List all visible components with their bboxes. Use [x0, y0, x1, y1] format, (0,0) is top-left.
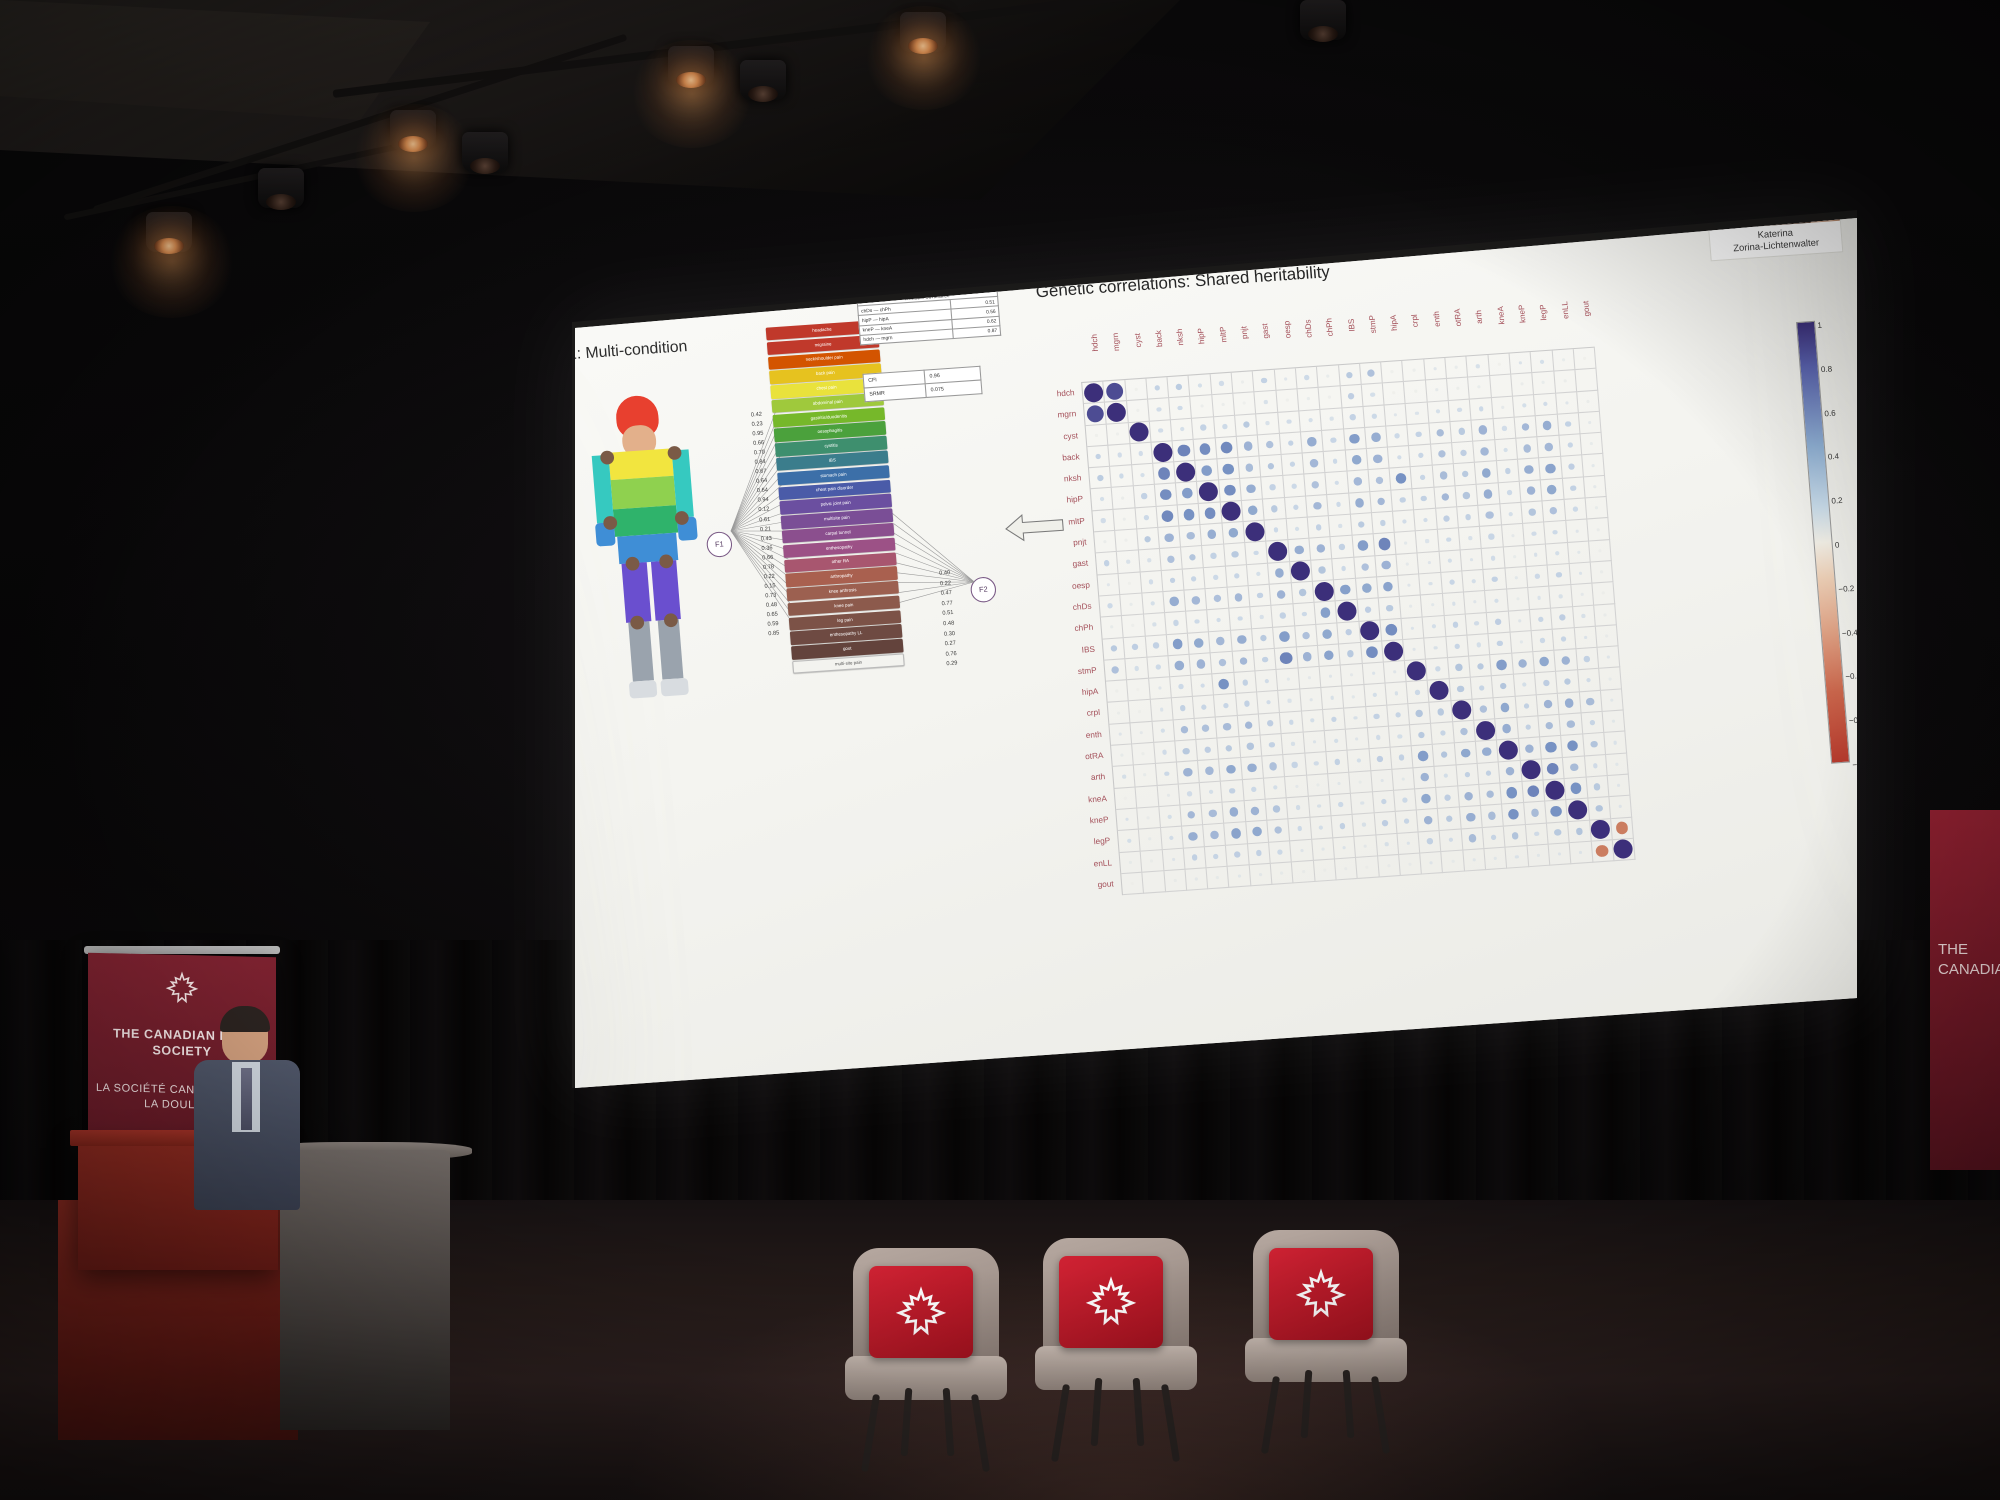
matrix-cell — [1240, 478, 1263, 501]
matrix-dot — [1482, 747, 1492, 757]
matrix-dot — [1333, 738, 1338, 743]
matrix-dot — [1504, 468, 1510, 474]
matrix-cell — [1323, 708, 1346, 731]
matrix-cell — [1142, 592, 1165, 615]
matrix-dot — [1291, 483, 1296, 488]
matrix-cell — [1300, 688, 1323, 711]
matrix-cell — [1297, 646, 1320, 669]
matrix-cell — [1122, 615, 1145, 638]
matrix-dot — [1121, 496, 1124, 499]
matrix-cell — [1454, 463, 1477, 486]
matrix-dot — [1440, 751, 1448, 758]
matrix-cell — [1546, 543, 1569, 566]
matrix-cell — [1113, 766, 1136, 789]
matrix-cell — [1594, 604, 1617, 627]
matrix-dot — [1583, 357, 1586, 360]
matrix-cell — [1117, 551, 1140, 574]
matrix-cell — [1444, 614, 1467, 637]
matrix-grid — [1081, 347, 1636, 896]
matrix-dot — [1435, 389, 1438, 392]
matrix-cell — [1255, 391, 1278, 414]
matrix-row-label: chDs — [1050, 596, 1096, 620]
matrix-dot — [1413, 648, 1416, 651]
matrix-cell — [1318, 644, 1341, 667]
matrix-dot — [1111, 666, 1119, 674]
matrix-cell — [1343, 685, 1366, 708]
matrix-cell — [1275, 368, 1298, 391]
matrix-cell — [1250, 606, 1273, 629]
matrix-dot — [1486, 790, 1494, 798]
matrix-cell — [1332, 815, 1355, 838]
stage-light-5 — [668, 46, 714, 86]
matrix-dot — [1143, 515, 1148, 520]
matrix-cell — [1533, 372, 1556, 395]
matrix-cell — [1328, 772, 1351, 795]
matrix-dot — [1331, 716, 1337, 722]
matrix-cell — [1574, 348, 1597, 371]
matrix-cell — [1339, 364, 1362, 387]
matrix-dot — [1202, 724, 1210, 732]
matrix-dot — [1395, 473, 1407, 485]
matrix-cell — [1580, 433, 1603, 456]
matrix-cell — [1460, 806, 1483, 829]
matrix-dot — [1156, 407, 1161, 412]
matrix-row-label: legP — [1068, 831, 1114, 855]
matrix-cell — [1453, 721, 1476, 744]
stage-light-1 — [146, 212, 192, 252]
matrix-cell — [1231, 629, 1254, 652]
matrix-cell — [1135, 507, 1158, 530]
matrix-dot — [1265, 441, 1273, 449]
matrix-dot — [1308, 676, 1311, 679]
matrix-dot — [1375, 476, 1383, 484]
matrix-dot — [1568, 463, 1575, 470]
matrix-dot — [1507, 490, 1512, 495]
matrix-cell — [1104, 380, 1127, 403]
matrix-cell — [1407, 681, 1430, 704]
matrix-dot — [1161, 510, 1174, 522]
matrix-cell — [1399, 853, 1422, 876]
matrix-dot — [1355, 737, 1358, 740]
matrix-cell — [1202, 803, 1225, 826]
matrix-cell — [1397, 553, 1420, 576]
matrix-cell — [1543, 500, 1566, 523]
matrix-dot — [1360, 621, 1380, 641]
matrix-dot — [1402, 777, 1405, 780]
matrix-dot — [1260, 635, 1267, 642]
matrix-cell — [1455, 742, 1478, 765]
matrix-dot — [1242, 679, 1248, 685]
matrix-cell — [1274, 626, 1297, 649]
matrix-dot — [1468, 834, 1476, 842]
matrix-cell — [1413, 487, 1436, 510]
matrix-cell — [1543, 779, 1566, 802]
matrix-dot — [1371, 433, 1381, 443]
matrix-dot — [1423, 815, 1432, 824]
matrix-cell — [1521, 501, 1544, 524]
matrix-dot — [1147, 816, 1150, 819]
matrix-dot — [1167, 555, 1175, 563]
matrix-dot — [1237, 616, 1242, 621]
matrix-cell — [1161, 827, 1184, 850]
matrix-cell — [1553, 628, 1576, 651]
matrix-dot — [1431, 603, 1434, 606]
matrix-cell — [1316, 623, 1339, 646]
matrix-cell — [1599, 668, 1622, 691]
matrix-dot — [1342, 845, 1346, 849]
matrix-dot — [1169, 835, 1174, 840]
matrix-dot — [1408, 863, 1411, 866]
matrix-dot — [1547, 485, 1557, 495]
matrix-cell — [1468, 634, 1491, 657]
matrix-cell — [1106, 680, 1129, 703]
matrix-cell — [1235, 414, 1258, 437]
matrix-dot — [1129, 860, 1132, 863]
matrix-cell — [1282, 733, 1305, 756]
matrix-cell — [1479, 783, 1502, 806]
matrix-cell — [1185, 589, 1208, 612]
matrix-cell — [1321, 408, 1344, 431]
matrix-cell — [1315, 602, 1338, 625]
matrix-dot — [1617, 784, 1620, 787]
matrix-dot — [1526, 486, 1535, 495]
matrix-dot — [1600, 570, 1603, 573]
matrix-cell — [1458, 785, 1481, 808]
matrix-cell — [1344, 707, 1367, 730]
matrix-dot — [1201, 704, 1207, 710]
matrix-cell — [1326, 472, 1349, 495]
matrix-dot — [1452, 622, 1458, 628]
matrix-dot — [1117, 453, 1122, 458]
matrix-cell — [1359, 620, 1382, 643]
matrix-cell — [1402, 617, 1425, 640]
matrix-cell — [1415, 509, 1438, 532]
matrix-cell — [1419, 830, 1442, 853]
matrix-dot — [1578, 572, 1582, 576]
matrix-cell — [1252, 627, 1275, 650]
matrix-cell — [1409, 702, 1432, 725]
matrix-cell — [1219, 479, 1242, 502]
stage-light-2 — [258, 168, 304, 208]
matrix-dot — [1593, 763, 1598, 768]
matrix-dot — [1219, 381, 1224, 386]
maple-leaf-icon — [895, 1286, 947, 1338]
matrix-dot — [1449, 579, 1455, 585]
matrix-dot — [1455, 664, 1463, 671]
matrix-cell — [1326, 751, 1349, 774]
matrix-dot — [1590, 442, 1593, 445]
matrix-dot — [1303, 652, 1312, 661]
matrix-cell — [1152, 720, 1175, 743]
matrix-dot — [1499, 682, 1507, 689]
matrix-dot — [1150, 859, 1153, 862]
matrix-cell — [1425, 637, 1448, 660]
stage-light-4 — [462, 132, 508, 172]
matrix-cell — [1579, 691, 1602, 714]
matrix-cell — [1556, 671, 1579, 694]
matrix-dot — [1218, 678, 1230, 690]
matrix-cell — [1485, 847, 1508, 870]
matrix-dot — [1479, 685, 1485, 691]
matrix-dot — [1336, 502, 1341, 507]
matrix-cell — [1537, 694, 1560, 717]
matrix-dot — [1153, 622, 1157, 626]
matrix-cell — [1416, 530, 1439, 553]
matrix-dot — [1285, 399, 1288, 402]
matrix-dot — [1334, 759, 1340, 765]
matrix-dot — [1132, 624, 1135, 627]
matrix-dot — [1228, 528, 1238, 538]
matrix-dot — [1200, 425, 1206, 431]
matrix-cell — [1433, 744, 1456, 767]
matrix-dot — [1137, 688, 1140, 691]
matrix-dot — [1319, 825, 1324, 830]
matrix-cell — [1120, 851, 1143, 874]
matrix-dot — [1425, 539, 1429, 543]
matrix-cell — [1470, 398, 1493, 421]
matrix-dot — [1297, 826, 1302, 831]
matrix-cell — [1542, 758, 1565, 781]
matrix-dot — [1352, 695, 1355, 698]
matrix-dot — [1458, 428, 1465, 435]
matrix-dot — [1589, 720, 1595, 726]
matrix-dot — [1394, 691, 1398, 695]
matrix-cell — [1550, 585, 1573, 608]
matrix-dot — [1221, 502, 1241, 522]
matrix-cell — [1203, 824, 1226, 847]
matrix-cell — [1319, 387, 1342, 410]
matrix-cell — [1579, 412, 1602, 435]
matrix-cell — [1518, 459, 1541, 482]
matrix-cell — [1266, 798, 1289, 821]
matrix-dot — [1511, 533, 1514, 536]
matrix-cell — [1207, 867, 1230, 890]
matrix-dot — [1543, 402, 1548, 407]
matrix-cell — [1148, 398, 1171, 421]
matrix-cell — [1180, 525, 1203, 548]
matrix-dot — [1338, 802, 1343, 807]
matrix-cell — [1171, 418, 1194, 441]
matrix-cell — [1488, 354, 1511, 377]
matrix-cell — [1565, 777, 1588, 800]
matrix-cell — [1463, 849, 1486, 872]
matrix-dot — [1421, 794, 1431, 804]
matrix-dot — [1244, 701, 1250, 707]
correlation-matrix-panel: Genetic correlations: Shared heritabilit… — [1025, 230, 1857, 1088]
matrix-dot — [1497, 640, 1503, 646]
matrix-cell — [1292, 861, 1315, 884]
matrix-dot — [1287, 440, 1293, 446]
matrix-dot — [1268, 742, 1274, 748]
matrix-cell — [1164, 870, 1187, 893]
matrix-cell — [1309, 538, 1332, 561]
matrix-cell — [1127, 400, 1150, 423]
matrix-dot — [1178, 405, 1183, 410]
matrix-dot — [1473, 600, 1476, 603]
matrix-cell — [1278, 411, 1301, 434]
matrix-dot — [1362, 822, 1366, 826]
matrix-cell — [1398, 574, 1421, 597]
matrix-dot — [1246, 743, 1254, 750]
matrix-dot — [1286, 419, 1291, 424]
matrix-dot — [1347, 650, 1354, 657]
matrix-row-label: hipP — [1041, 489, 1087, 513]
matrix-cell — [1357, 599, 1380, 622]
matrix-dot — [1309, 459, 1318, 468]
matrix-dot — [1488, 534, 1494, 540]
matrix-dot — [1563, 380, 1566, 383]
matrix-dot — [1125, 539, 1128, 542]
matrix-dot — [1434, 646, 1438, 650]
matrix-cell — [1280, 432, 1303, 455]
matrix-dot — [1554, 829, 1561, 836]
matrix-cell — [1292, 582, 1315, 605]
matrix-dot — [1273, 785, 1278, 790]
matrix-cell — [1146, 377, 1169, 400]
matrix-cell — [1221, 501, 1244, 524]
matrix-cell — [1510, 352, 1533, 375]
matrix-cell — [1188, 632, 1211, 655]
matrix-cell — [1539, 457, 1562, 480]
matrix-dot — [1607, 656, 1610, 659]
matrix-cell — [1464, 591, 1487, 614]
matrix-dot — [1378, 538, 1391, 551]
matrix-dot — [1477, 663, 1484, 670]
matrix-dot — [1522, 682, 1527, 687]
matrix-cell — [1541, 479, 1564, 502]
matrix-cell — [1184, 847, 1207, 870]
matrix-dot — [1264, 678, 1269, 683]
matrix-cell — [1182, 825, 1205, 848]
matrix-cell — [1404, 381, 1427, 404]
matrix-cell — [1125, 379, 1148, 402]
matrix-cell — [1450, 678, 1473, 701]
matrix-dot — [1106, 402, 1126, 422]
matrix-cell — [1406, 402, 1429, 425]
matrix-dot — [1183, 768, 1192, 777]
matrix-dot — [1316, 544, 1325, 553]
matrix-cell — [1350, 771, 1373, 794]
matrix-cell — [1214, 415, 1237, 438]
f1-factor-label: F1: Multi-condition — [575, 337, 688, 364]
matrix-dot — [1160, 708, 1164, 712]
matrix-cell — [1498, 482, 1521, 505]
matrix-dot — [1213, 595, 1221, 603]
matrix-cell — [1370, 490, 1393, 513]
matrix-dot — [1187, 791, 1192, 796]
matrix-cell — [1121, 594, 1144, 617]
matrix-cell — [1115, 787, 1138, 810]
matrix-dot — [1154, 385, 1160, 391]
stage-light-8 — [1300, 0, 1346, 40]
matrix-cell — [1397, 832, 1420, 855]
matrix-dot — [1149, 838, 1152, 841]
matrix-cell — [1608, 775, 1631, 798]
matrix-dot — [1565, 421, 1571, 427]
matrix-cell — [1353, 814, 1376, 837]
matrix-dot — [1572, 507, 1577, 512]
matrix-cell — [1477, 483, 1500, 506]
matrix-dot — [1412, 369, 1415, 372]
matrix-cell — [1330, 794, 1353, 817]
matrix-cell — [1435, 765, 1458, 788]
matrix-dot — [1594, 783, 1601, 790]
matrix-cell — [1259, 713, 1282, 736]
matrix-cell — [1468, 376, 1491, 399]
matrix-dot — [1567, 442, 1573, 448]
matrix-cell — [1283, 475, 1306, 498]
colorbar-tick: 0 — [1835, 540, 1840, 550]
matrix-dot — [1478, 406, 1483, 411]
matrix-cell — [1378, 855, 1401, 878]
matrix-cell — [1549, 843, 1572, 866]
slide-viewport: Katerina Zorina-Lichtenwalter Common ris… — [575, 218, 1857, 1088]
fit-label: SRMR — [864, 384, 926, 402]
loading-value: 0.85 — [743, 629, 780, 641]
matrix-cell — [1159, 805, 1182, 828]
matrix-row-label: enth — [1060, 724, 1106, 748]
matrix-cell — [1480, 526, 1503, 549]
matrix-row-label: mltP — [1043, 510, 1089, 534]
matrix-cell — [1345, 449, 1368, 472]
matrix-dot — [1124, 796, 1127, 799]
matrix-dot — [1500, 702, 1510, 712]
matrix-cell — [1391, 747, 1414, 770]
maple-leaf-pillow-2 — [1059, 1256, 1163, 1348]
matrix-cell — [1265, 519, 1288, 542]
matrix-cell — [1348, 750, 1371, 773]
matrix-dot — [1266, 700, 1271, 705]
matrix-cell — [1338, 621, 1361, 644]
matrix-cell — [1429, 422, 1452, 445]
matrix-cell — [1155, 484, 1178, 507]
matrix-dot — [1480, 447, 1489, 456]
matrix-cell — [1533, 651, 1556, 674]
matrix-dot — [1605, 634, 1608, 637]
matrix-cell — [1333, 557, 1356, 580]
matrix-cell — [1412, 745, 1435, 768]
matrix-cell — [1227, 586, 1250, 609]
matrix-cell — [1279, 690, 1302, 713]
matrix-cell — [1415, 788, 1438, 811]
matrix-row-label: stmP — [1055, 660, 1101, 684]
matrix-dot — [1346, 371, 1353, 378]
matrix-cell — [1169, 397, 1192, 420]
matrix-dot — [1429, 582, 1433, 586]
matrix-dot — [1452, 602, 1456, 606]
matrix-dot — [1122, 774, 1126, 778]
matrix-dot — [1398, 754, 1404, 760]
matrix-cell — [1376, 833, 1399, 856]
matrix-cell — [1510, 631, 1533, 654]
matrix-cell — [1369, 748, 1392, 771]
matrix-cell — [1246, 821, 1269, 844]
matrix-cell — [1126, 658, 1149, 681]
matrix-dot — [1204, 746, 1211, 753]
matrix-dot — [1406, 841, 1410, 845]
matrix-cell — [1457, 506, 1480, 529]
matrix-dot — [1222, 463, 1234, 475]
matrix-dot — [1433, 367, 1436, 370]
matrix-dot — [1244, 721, 1253, 730]
matrix-dot — [1309, 698, 1312, 701]
matrix-cell — [1150, 699, 1173, 722]
matrix-dot — [1525, 744, 1534, 753]
matrix-dot — [1192, 855, 1198, 861]
matrix-cell — [1504, 825, 1527, 848]
matrix-dot — [1273, 527, 1278, 532]
maple-leaf-icon — [165, 971, 199, 1006]
